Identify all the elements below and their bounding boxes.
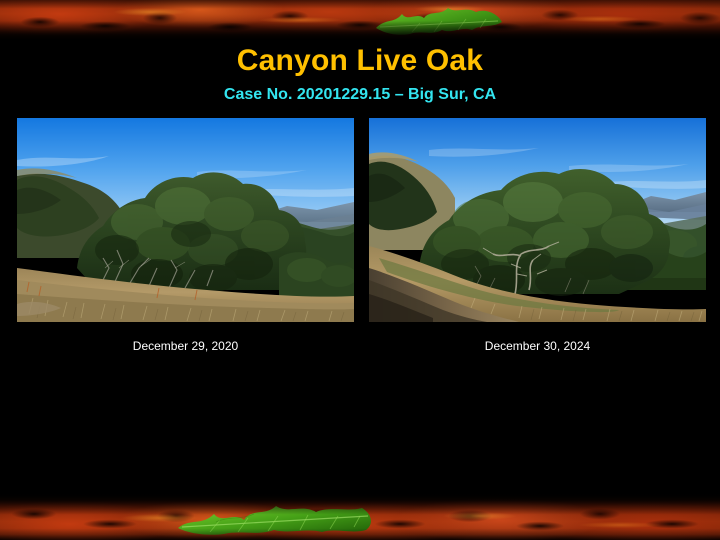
slide-canvas: Canyon Live Oak Case No. 20201229.15 – B… bbox=[0, 0, 720, 540]
photo-caption-2024: December 30, 2024 bbox=[369, 339, 706, 353]
slide-title: Canyon Live Oak bbox=[0, 44, 720, 78]
photo-caption-2020: December 29, 2020 bbox=[17, 339, 354, 353]
photo-canyon-live-oak-2024[interactable] bbox=[369, 118, 706, 322]
bottom-decorative-leaf-band bbox=[0, 494, 720, 540]
slide-subtitle: Case No. 20201229.15 – Big Sur, CA bbox=[0, 86, 720, 104]
top-decorative-leaf-band bbox=[0, 0, 720, 40]
photo-canyon-live-oak-2020[interactable] bbox=[17, 118, 354, 322]
